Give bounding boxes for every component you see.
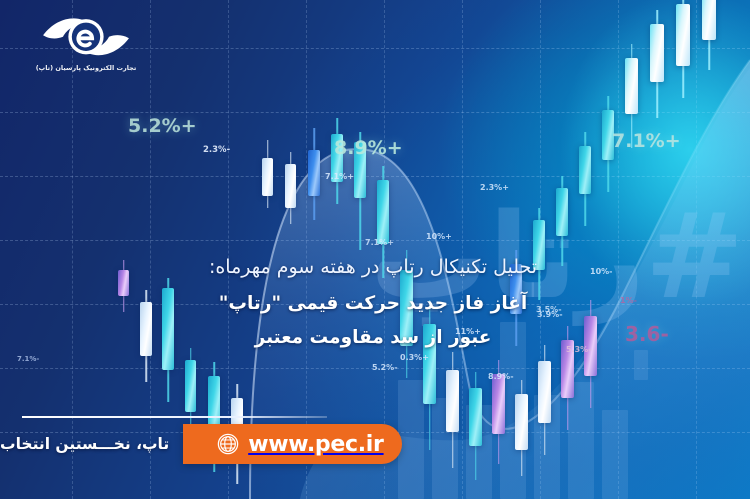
- gridline-vertical: [462, 0, 463, 499]
- gridline-horizontal: [0, 176, 750, 177]
- candlestick: [676, 0, 690, 98]
- banner-canvas: #رتاپ +5.2%-2.3%+8.9%+7.1%+7.1%+2.3%+7.1…: [0, 0, 750, 499]
- candlestick: [702, 0, 716, 70]
- percentage-label: -7.1%: [17, 355, 39, 363]
- candlestick-wick: [656, 10, 658, 118]
- candlestick-body: [354, 142, 366, 198]
- gridline-vertical: [540, 0, 541, 499]
- headline-line-3: عبور از سد مقاومت معتبر: [10, 322, 736, 353]
- footer-slogan: تاپ، نخـــستین انتخاب: [0, 435, 169, 453]
- candlestick-wick: [475, 372, 477, 480]
- candlestick-body: [492, 374, 505, 434]
- gridline-horizontal: [0, 112, 750, 113]
- candlestick-body: [185, 360, 196, 412]
- headline-line-2: آغاز فاز جدید حرکت قیمی "رتاپ": [10, 288, 736, 319]
- volume-bar: [534, 395, 560, 499]
- volume-bar: [568, 382, 594, 499]
- headline-line-1: تحلیل تکنیکال رتاپ در هفته سوم مهرماه:: [10, 252, 736, 282]
- percentage-label: +2.3%: [480, 183, 509, 192]
- percentage-label: +7.1%: [612, 130, 681, 152]
- candlestick-body: [538, 361, 551, 423]
- candlestick: [579, 132, 591, 226]
- eye-e-logo-icon: [40, 12, 132, 60]
- footer-bar: www.pec.ir تاپ، نخـــستین انتخاب: [0, 424, 402, 464]
- brand-logo: تجارت الکترونیک پارسیان (تاپ): [24, 12, 148, 72]
- candlestick-wick: [336, 118, 338, 204]
- candlestick: [538, 345, 551, 455]
- gridline-vertical: [696, 0, 697, 499]
- candlestick-wick: [359, 132, 361, 250]
- percentage-label: +10%: [426, 232, 452, 241]
- candlestick-body: [262, 158, 273, 196]
- percentage-label: +7.1%: [325, 172, 354, 181]
- website-url: www.pec.ir: [248, 432, 383, 457]
- candlestick-wick: [290, 152, 292, 224]
- candlestick: [446, 352, 459, 468]
- candlestick: [492, 360, 505, 464]
- candlestick-wick: [708, 0, 710, 70]
- volume-bar: [602, 410, 628, 499]
- candlestick: [650, 10, 664, 118]
- candlestick-wick: [521, 380, 523, 476]
- candlestick-body: [331, 134, 343, 182]
- percentage-label: +5.2%: [128, 115, 197, 137]
- website-link-pill[interactable]: www.pec.ir: [183, 424, 401, 464]
- percentage-label: +8.9%: [334, 137, 403, 159]
- percentage-label: +0.3%: [400, 353, 429, 362]
- candlestick-body: [579, 146, 591, 194]
- candlestick: [354, 132, 366, 250]
- candlestick-wick: [682, 0, 684, 98]
- candlestick-wick: [313, 128, 315, 220]
- candlestick: [262, 140, 273, 208]
- candlestick-body: [377, 180, 389, 244]
- candlestick: [625, 44, 638, 148]
- candlestick-wick: [584, 132, 586, 226]
- candlestick-body: [602, 110, 614, 160]
- volume-bar: [466, 405, 492, 499]
- percentage-label: -2.3%: [203, 145, 230, 155]
- candlestick: [285, 152, 296, 224]
- candlestick-body: [676, 4, 690, 66]
- percentage-label: -8.9%: [488, 372, 514, 381]
- candlestick: [515, 380, 528, 476]
- candlestick-wick: [631, 44, 633, 148]
- gridline-horizontal: [0, 240, 750, 241]
- candlestick-body: [285, 164, 296, 208]
- volume-bar: [398, 380, 424, 499]
- globe-icon: [217, 433, 239, 455]
- gridline-vertical: [618, 0, 619, 499]
- candlestick: [469, 372, 482, 480]
- candlestick-body: [556, 188, 568, 236]
- headline-block: تحلیل تکنیکال رتاپ در هفته سوم مهرماه: آ…: [10, 252, 736, 353]
- candlestick: [602, 96, 614, 192]
- candlestick-body: [469, 388, 482, 446]
- gridline-horizontal: [0, 368, 750, 369]
- candlestick-body: [308, 150, 320, 196]
- candlestick-body: [702, 0, 716, 40]
- candlestick-wick: [498, 360, 500, 464]
- candlestick-body: [446, 370, 459, 432]
- candlestick-body: [650, 24, 664, 82]
- candlestick: [331, 118, 343, 204]
- candlestick-wick: [452, 352, 454, 468]
- volume-bar: [634, 350, 648, 380]
- candlestick-wick: [544, 345, 546, 455]
- percentage-label: +7.1%: [365, 238, 394, 247]
- candlestick: [308, 128, 320, 220]
- volume-bar: [432, 398, 458, 499]
- percentage-label: -5.2%: [372, 363, 398, 372]
- candlestick-wick: [267, 140, 269, 208]
- logo-subtitle: تجارت الکترونیک پارسیان (تاپ): [24, 64, 148, 72]
- candlestick-body: [515, 394, 528, 450]
- footer-divider: [22, 416, 327, 418]
- candlestick-wick: [607, 96, 609, 192]
- candlestick-body: [625, 58, 638, 114]
